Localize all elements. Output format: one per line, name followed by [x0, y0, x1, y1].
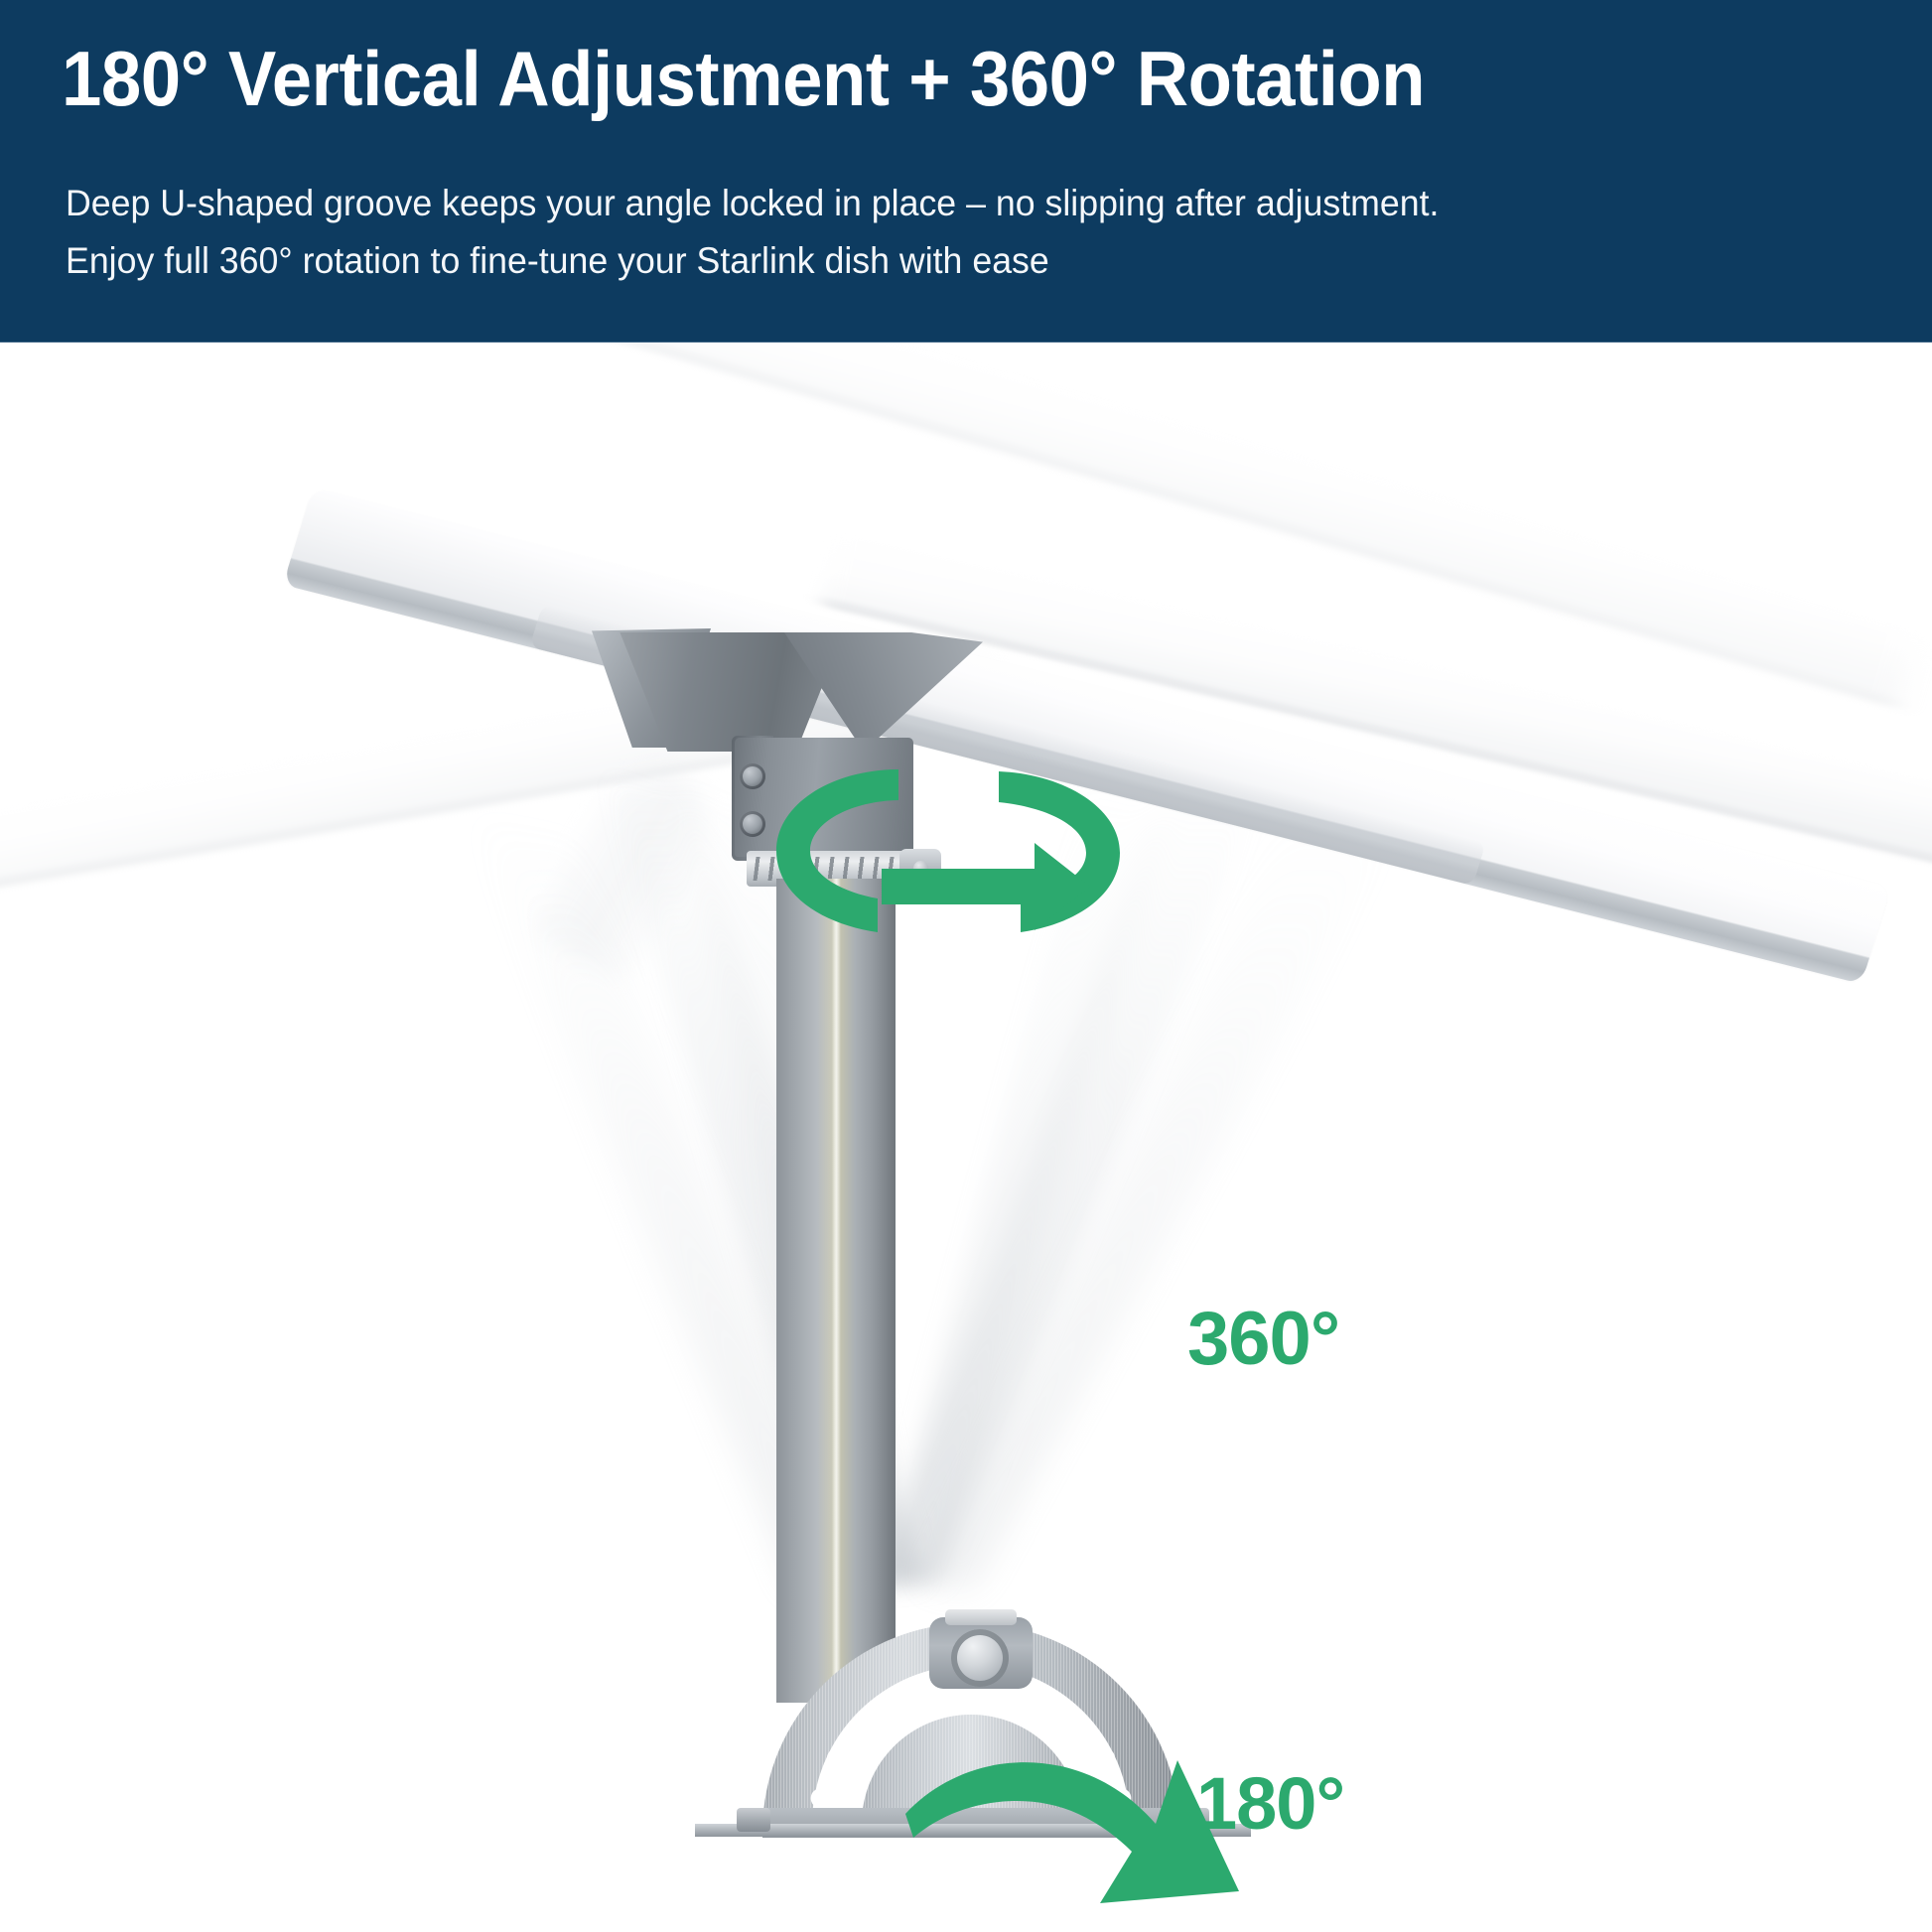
dish-panel-edge	[283, 487, 1891, 984]
collar-bolt-lower-icon	[740, 811, 765, 837]
u-groove-bracket-assembly	[695, 1623, 1251, 1901]
banner-subtitle-line-1: Deep U-shaped groove keeps your angle lo…	[66, 181, 1809, 226]
base-mounting-bar	[695, 1824, 1251, 1837]
pivot-cap-tab	[945, 1609, 1017, 1625]
adapter-collar	[735, 738, 913, 857]
product-feature-image: 180° Vertical Adjustment + 360° Rotation…	[0, 0, 1932, 1932]
header-banner: 180° Vertical Adjustment + 360° Rotation…	[0, 0, 1932, 343]
pivot-bolt-icon	[951, 1629, 1009, 1687]
product-photo-stage: 360° 180°	[0, 343, 1932, 1932]
hose-clamp-slots	[754, 857, 905, 881]
starlink-dish	[298, 367, 1926, 923]
ghost-mast-sweep-wide	[467, 809, 1390, 1591]
rotation-callout-label: 360°	[1187, 1302, 1339, 1377]
mast-pole-highlight	[832, 879, 841, 1703]
banner-subtitle-line-2: Enjoy full 360° rotation to fine-tune yo…	[66, 238, 1809, 284]
hose-clamp-screw-icon	[913, 861, 928, 876]
collar-bolt-upper-icon	[740, 763, 765, 789]
page-title: 180° Vertical Adjustment + 360° Rotation	[62, 36, 1751, 121]
base-bolt-left-icon	[737, 1808, 770, 1832]
tilt-callout-label: 180°	[1196, 1767, 1344, 1841]
